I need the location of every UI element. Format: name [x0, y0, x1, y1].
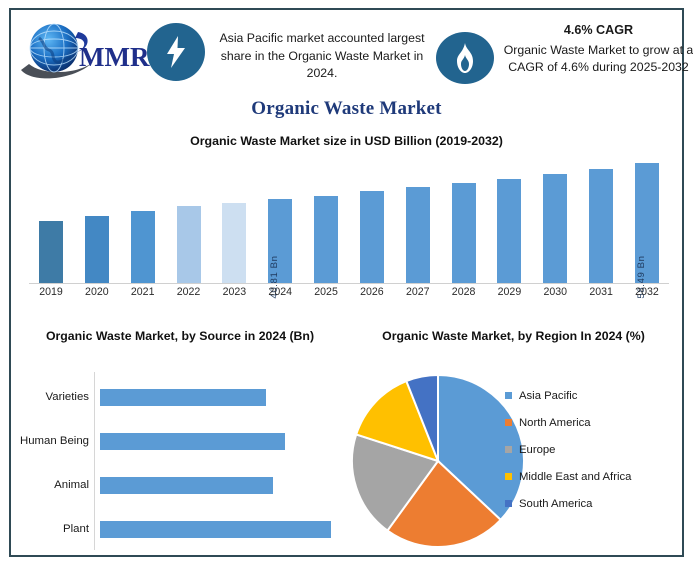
- by-region-legend: Asia PacificNorth AmericaEuropeMiddle Ea…: [505, 382, 685, 517]
- header: MMR Asia Pacific market accounted larges…: [11, 10, 682, 98]
- bar: [360, 191, 384, 283]
- legend-label: South America: [519, 498, 592, 510]
- by-region-pie: [349, 372, 527, 550]
- bar-column: [167, 156, 211, 283]
- bar: [589, 169, 613, 283]
- by-region-pie-chart: Organic Waste Market, by Region In 2024 …: [345, 320, 682, 555]
- svg-text:MMR: MMR: [79, 42, 150, 72]
- bar-column: [29, 156, 73, 283]
- bar: [314, 196, 338, 283]
- x-axis-label: 2028: [442, 286, 486, 298]
- market-size-bars: 40.81 Bn58.49 Bn: [29, 156, 669, 283]
- hbar-category-label: Varieties: [15, 390, 95, 404]
- infographic-page: MMR Asia Pacific market accounted larges…: [0, 0, 693, 565]
- legend-swatch: [505, 473, 512, 480]
- bar: [85, 216, 109, 283]
- hbar-category-label: Animal: [15, 478, 95, 492]
- x-axis-label: 2020: [75, 286, 119, 298]
- bar-column: [75, 156, 119, 283]
- legend-swatch: [505, 419, 512, 426]
- flame-badge: [436, 32, 494, 84]
- x-axis-label: 2025: [304, 286, 348, 298]
- legend-item: Europe: [505, 436, 685, 463]
- bar: [497, 179, 521, 283]
- x-axis-label: 2023: [212, 286, 256, 298]
- legend-label: Middle East and Africa: [519, 471, 631, 483]
- hbar-bar: [100, 433, 285, 450]
- bar-column: [442, 156, 486, 283]
- x-axis-label: 2027: [396, 286, 440, 298]
- x-axis-label: 2021: [121, 286, 165, 298]
- by-source-chart-title: Organic Waste Market, by Source in 2024 …: [15, 320, 345, 345]
- cagr-value: 4.6% CAGR: [501, 22, 693, 40]
- x-axis-label: 2022: [167, 286, 211, 298]
- bar-column: [396, 156, 440, 283]
- x-axis-label: 2019: [29, 286, 73, 298]
- legend-item: Middle East and Africa: [505, 463, 685, 490]
- bar: [222, 203, 246, 283]
- hbar-category-label: Plant: [15, 522, 95, 536]
- x-axis-label: 2024: [258, 286, 302, 298]
- bar-column: [121, 156, 165, 283]
- x-axis-label: 2026: [350, 286, 394, 298]
- hbar-row: Human Being: [15, 419, 345, 463]
- x-axis-label: 2032: [625, 286, 669, 298]
- bar-column: [487, 156, 531, 283]
- bar: [543, 174, 567, 283]
- globe-swoosh-icon: MMR: [17, 18, 157, 84]
- bar: 58.49 Bn: [635, 163, 659, 283]
- hbar-row: Plant: [15, 507, 345, 551]
- x-axis-label: 2030: [533, 286, 577, 298]
- infographic-frame: MMR Asia Pacific market accounted larges…: [9, 8, 684, 557]
- bar-column: [579, 156, 623, 283]
- header-right-callout: 4.6% CAGR Organic Waste Market to grow a…: [501, 22, 693, 77]
- hbar-bar: [100, 477, 273, 494]
- market-size-bar-chart: Organic Waste Market size in USD Billion…: [11, 130, 682, 315]
- hbar-row: Animal: [15, 463, 345, 507]
- flame-icon: [453, 42, 477, 74]
- market-size-x-labels: 2019202020212022202320242025202620272028…: [29, 286, 669, 298]
- mmr-logo: MMR: [17, 18, 157, 84]
- bar-column: 58.49 Bn: [625, 156, 669, 283]
- bar: [452, 183, 476, 283]
- by-region-chart-title: Organic Waste Market, by Region In 2024 …: [345, 320, 682, 345]
- market-size-chart-title: Organic Waste Market size in USD Billion…: [11, 134, 682, 148]
- bar: 40.81 Bn: [268, 199, 292, 283]
- by-source-plot: VarietiesHuman BeingAnimalPlant: [15, 372, 345, 550]
- x-axis-label: 2029: [487, 286, 531, 298]
- bar: [406, 187, 430, 283]
- bar: [177, 206, 201, 283]
- page-title: Organic Waste Market: [11, 98, 682, 120]
- bar-column: [350, 156, 394, 283]
- lightning-bolt-badge: [147, 23, 205, 81]
- legend-item: South America: [505, 490, 685, 517]
- legend-swatch: [505, 500, 512, 507]
- bar: [131, 211, 155, 283]
- bar: [39, 221, 63, 283]
- bar-column: [304, 156, 348, 283]
- lightning-bolt-icon: [163, 35, 189, 69]
- legend-item: North America: [505, 409, 685, 436]
- hbar-category-label: Human Being: [15, 434, 95, 448]
- bar-column: [533, 156, 577, 283]
- legend-label: Europe: [519, 444, 555, 456]
- by-source-bar-chart: Organic Waste Market, by Source in 2024 …: [15, 320, 345, 555]
- header-left-callout: Asia Pacific market accounted largest sh…: [211, 30, 433, 83]
- market-size-x-axis: [29, 283, 669, 284]
- x-axis-label: 2031: [579, 286, 623, 298]
- legend-label: Asia Pacific: [519, 390, 577, 402]
- hbar-row: Varieties: [15, 375, 345, 419]
- legend-item: Asia Pacific: [505, 382, 685, 409]
- bar-column: [212, 156, 256, 283]
- legend-label: North America: [519, 417, 591, 429]
- bar-column: 40.81 Bn: [258, 156, 302, 283]
- cagr-description: Organic Waste Market to grow at a CAGR o…: [504, 43, 693, 75]
- legend-swatch: [505, 446, 512, 453]
- hbar-bar: [100, 521, 331, 538]
- legend-swatch: [505, 392, 512, 399]
- hbar-bar: [100, 389, 266, 406]
